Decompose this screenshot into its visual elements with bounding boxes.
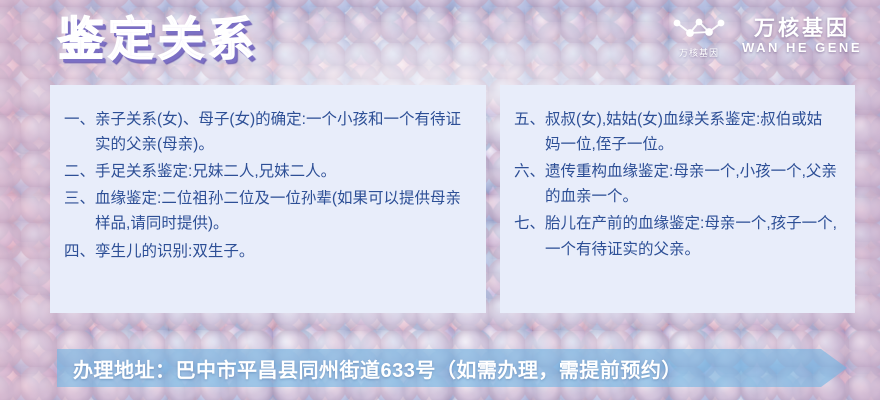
list-item-text: 胎儿在产前的血缘鉴定:母亲一个,孩子一个,一个有待证实的父亲。: [545, 211, 837, 261]
list-item-text: 孪生儿的识别:双生子。: [95, 239, 468, 264]
list-item-text: 亲子关系(女)、母子(女)的确定:一个小孩和一个有待证实的父亲(母亲)。: [95, 107, 468, 157]
brand-mark-label: 万核基因: [679, 46, 719, 59]
panel-right: 五、 叔叔(女),姑姑(女)血绿关系鉴定:叔伯或姑妈一位,侄子一位。 六、 遗传…: [500, 85, 855, 313]
list-item-text: 手足关系鉴定:兄妹二人,兄妹二人。: [95, 159, 468, 184]
page-title: 鉴定关系: [58, 16, 258, 62]
brand-text: 万核基因 WAN HE GENE: [742, 17, 862, 57]
list-item-number: 五、: [514, 107, 545, 157]
list-item: 六、 遗传重构血缘鉴定:母亲一个,小孩一个,父亲的血亲一个。: [514, 159, 837, 209]
list-item-text: 血缘鉴定:二位祖孙二位及一位孙辈(如果可以提供母亲样品,请同时提供)。: [95, 186, 468, 236]
list-item: 五、 叔叔(女),姑姑(女)血绿关系鉴定:叔伯或姑妈一位,侄子一位。: [514, 107, 837, 157]
list-item: 三、 血缘鉴定:二位祖孙二位及一位孙辈(如果可以提供母亲样品,请同时提供)。: [64, 186, 468, 236]
list-item-number: 四、: [64, 239, 95, 264]
address-banner-text: 办理地址：巴中市平昌县同州街道633号（如需办理，需提前预约）: [57, 349, 847, 387]
address-banner: 办理地址：巴中市平昌县同州街道633号（如需办理，需提前预约）: [57, 349, 847, 387]
list-item-text: 叔叔(女),姑姑(女)血绿关系鉴定:叔伯或姑妈一位,侄子一位。: [545, 107, 837, 157]
brand-name-cn: 万核基因: [754, 17, 850, 40]
list-item: 七、 胎儿在产前的血缘鉴定:母亲一个,孩子一个,一个有待证实的父亲。: [514, 211, 837, 261]
list-item-number: 七、: [514, 211, 545, 261]
brand-mark: 万核基因: [668, 14, 730, 59]
list-item-number: 二、: [64, 159, 95, 184]
panel-left: 一、 亲子关系(女)、母子(女)的确定:一个小孩和一个有待证实的父亲(母亲)。 …: [50, 85, 486, 313]
molecule-network-icon: [668, 14, 730, 44]
list-item: 一、 亲子关系(女)、母子(女)的确定:一个小孩和一个有待证实的父亲(母亲)。: [64, 107, 468, 157]
list-item-number: 三、: [64, 186, 95, 236]
brand-logo: 万核基因 万核基因 WAN HE GENE: [668, 14, 862, 59]
brand-name-en: WAN HE GENE: [742, 40, 862, 57]
list-item-number: 六、: [514, 159, 545, 209]
list-item: 二、 手足关系鉴定:兄妹二人,兄妹二人。: [64, 159, 468, 184]
list-item-number: 一、: [64, 107, 95, 157]
poster-root: 鉴定关系: [0, 0, 880, 400]
list-item-text: 遗传重构血缘鉴定:母亲一个,小孩一个,父亲的血亲一个。: [545, 159, 837, 209]
list-item: 四、 孪生儿的识别:双生子。: [64, 239, 468, 264]
content-panels: 一、 亲子关系(女)、母子(女)的确定:一个小孩和一个有待证实的父亲(母亲)。 …: [50, 85, 855, 313]
